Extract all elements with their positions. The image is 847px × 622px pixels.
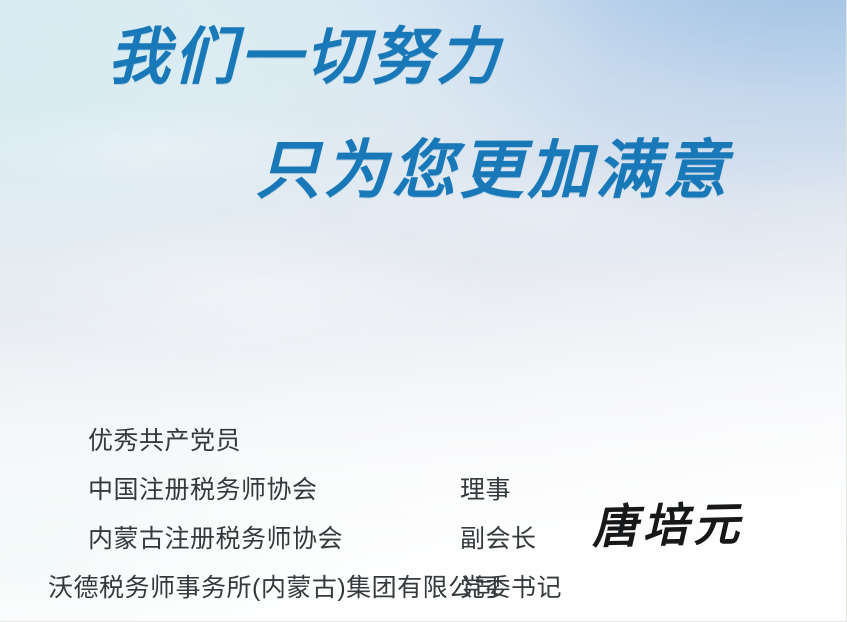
credential-organization: 优秀共产党员 <box>88 426 241 456</box>
credential-organization: 沃德税务师事务所(内蒙古)集团有限公司 <box>48 573 499 603</box>
credential-row: 沃德税务师事务所(内蒙古)集团有限公司 党委书记 <box>0 573 847 619</box>
credential-organization: 中国注册税务师协会 <box>88 475 318 505</box>
headline-line-2: 只为您更加满意 <box>256 139 731 203</box>
credential-title: 理事 <box>460 475 511 505</box>
credential-row: 优秀共产党员 <box>0 426 847 472</box>
credential-organization: 内蒙古注册税务师协会 <box>88 524 343 554</box>
handwritten-signature: 唐培元 <box>591 497 744 554</box>
presentation-slide: 我们一切努力 只为您更加满意 优秀共产党员 中国注册税务师协会 理事 内蒙古注册… <box>0 0 847 622</box>
credential-title: 副会长 <box>460 524 537 554</box>
headline-line-1: 我们一切努力 <box>108 26 502 88</box>
credential-title: 党委书记 <box>460 573 562 603</box>
